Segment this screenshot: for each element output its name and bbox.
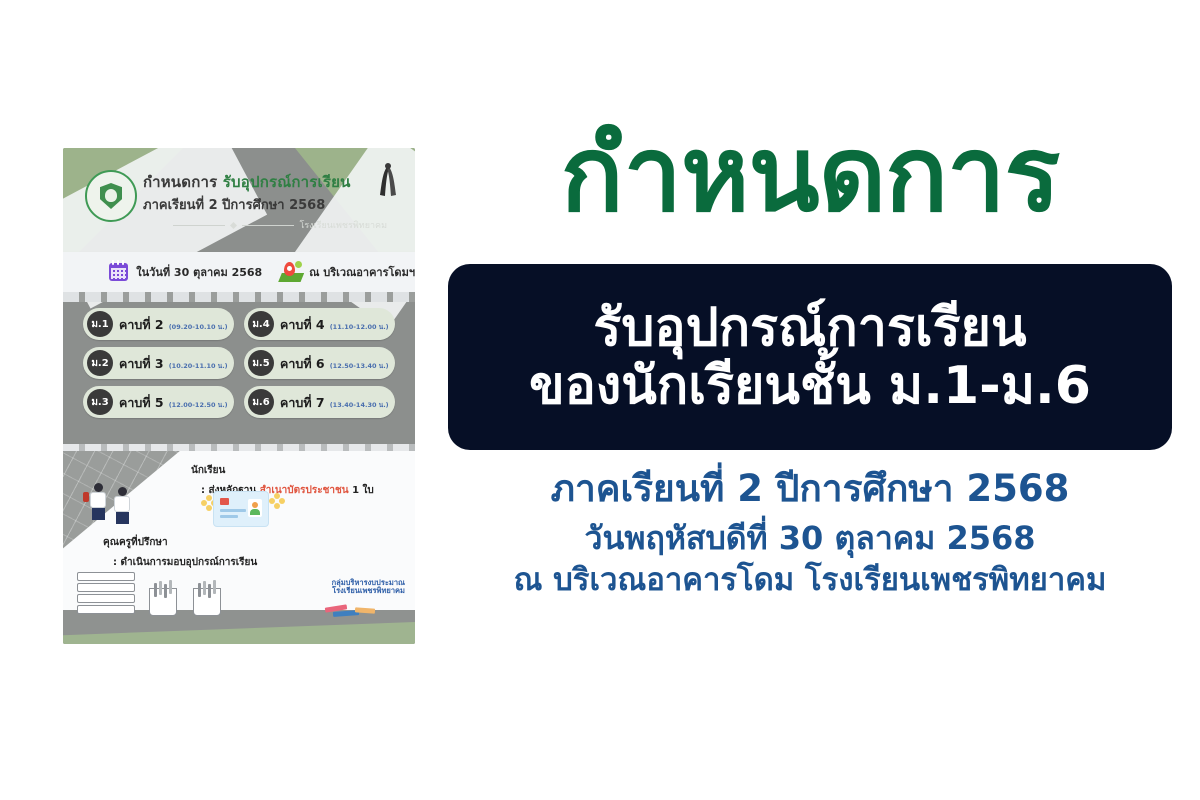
poster-title-accent: รับอุปกรณ์การเรียน [223, 173, 351, 191]
mourning-ribbon-icon [377, 162, 399, 198]
map-pin-icon [278, 262, 303, 282]
grade-badge: ม.4 [248, 311, 274, 337]
grade-badge: ม.6 [248, 389, 274, 415]
announcement-text-column: กำหนดการ รับอุปกรณ์การเรียน ของนักเรียนช… [440, 0, 1180, 800]
poster-divider: โรงเรียนเพชรพิทยาคม [173, 218, 387, 232]
poster-info-band: ในวันที่ 30 ตุลาคม 2568 ณ บริเวณอาคารโดม… [63, 252, 415, 292]
period-time: (12.50-13.40 น.) [330, 362, 389, 370]
teacher-label: คุณครูที่ปรึกษา [103, 535, 257, 550]
poster-fence-top [63, 292, 415, 302]
poster-header: กำหนดการ รับอุปกรณ์การเรียน ภาคเรียนที่ … [63, 148, 415, 254]
poster-title-prefix: กำหนดการ [143, 173, 217, 191]
books-icon [77, 572, 135, 616]
poster-footer-illustration: กลุ่มบริหารงบประมาณ โรงเรียนเพชรพิทยาคม [63, 574, 415, 644]
student-walking-icon [85, 483, 111, 520]
period-chip: ม.3 คาบที่ 5 (12.00-12.50 น.) [83, 386, 234, 418]
poster-title: กำหนดการ รับอุปกรณ์การเรียน [143, 170, 371, 194]
period-time: (10.20-11.10 น.) [169, 362, 228, 370]
period-time: (13.40-14.30 น.) [330, 401, 389, 409]
teacher-instruction: คุณครูที่ปรึกษา : ดำเนินการมอบอุปกรณ์การ… [103, 535, 257, 570]
announcement-poster-image[interactable]: กำหนดการ รับอุปกรณ์การเรียน ภาคเรียนที่ … [63, 148, 415, 644]
poster-school-name: โรงเรียนเพชรพิทยาคม [300, 218, 388, 232]
id-card-icon [213, 491, 269, 527]
period-time: (09.20-10.10 น.) [169, 323, 228, 331]
period-name: คาบที่ 3 [119, 356, 164, 371]
period-name: คาบที่ 7 [280, 395, 325, 410]
poster-credit: กลุ่มบริหารงบประมาณ โรงเรียนเพชรพิทยาคม [332, 579, 405, 596]
period-time: (12.00-12.50 น.) [169, 401, 228, 409]
pencil-cup-icon [193, 588, 221, 616]
announcement-details: ภาคเรียนที่ 2 ปีการศึกษา 2568 วันพฤหัสบด… [440, 466, 1180, 600]
period-time: (11.10-12.00 น.) [330, 323, 389, 331]
grade-badge: ม.1 [87, 311, 113, 337]
poster-period-grid: ม.1 คาบที่ 2 (09.20-10.10 น.) ม.4 คาบที่… [83, 308, 395, 418]
period-chip: ม.4 คาบที่ 4 (11.10-12.00 น.) [244, 308, 395, 340]
poster-location-text: ณ บริเวณอาคารโดมฯ [309, 263, 415, 281]
period-chip: ม.1 คาบที่ 2 (09.20-10.10 น.) [83, 308, 234, 340]
period-chip: ม.6 คาบที่ 7 (13.40-14.30 น.) [244, 386, 395, 418]
page-title: กำหนดการ [440, 122, 1180, 226]
calendar-icon [109, 263, 128, 281]
period-chip: ม.5 คาบที่ 6 (12.50-13.40 น.) [244, 347, 395, 379]
detail-date: วันพฤหัสบดีที่ 30 ตุลาคม 2568 [440, 518, 1180, 560]
banner-line-1: รับอุปกรณ์การเรียน [593, 299, 1026, 357]
teacher-pair-icon [347, 481, 401, 551]
period-name: คาบที่ 6 [280, 356, 325, 371]
flower-icon [269, 493, 285, 509]
poster-lower-section: นักเรียน : ส่งหลักฐาน สำเนาบัตรประชาชน 1… [63, 451, 415, 644]
grade-badge: ม.2 [87, 350, 113, 376]
credit-line-2: โรงเรียนเพชรพิทยาคม [332, 587, 405, 596]
detail-location: ณ บริเวณอาคารโดม โรงเรียนเพชรพิทยาคม [440, 560, 1180, 600]
grade-badge: ม.3 [87, 389, 113, 415]
detail-semester: ภาคเรียนที่ 2 ปีการศึกษา 2568 [440, 466, 1180, 512]
student-walking-icon [109, 487, 135, 524]
grade-badge: ม.5 [248, 350, 274, 376]
poster-date-text: ในวันที่ 30 ตุลาคม 2568 [136, 263, 262, 281]
period-name: คาบที่ 2 [119, 317, 164, 332]
school-crest-icon [85, 170, 137, 222]
highlight-banner: รับอุปกรณ์การเรียน ของนักเรียนชั้น ม.1-ม… [448, 264, 1172, 450]
pencil-cup-icon [149, 588, 177, 616]
teacher-value: : ดำเนินการมอบอุปกรณ์การเรียน [113, 555, 257, 570]
diamond-icon [230, 221, 237, 228]
period-name: คาบที่ 4 [280, 317, 325, 332]
banner-line-2: ของนักเรียนชั้น ม.1-ม.6 [529, 357, 1091, 415]
period-name: คาบที่ 5 [119, 395, 164, 410]
pencils-icon [325, 604, 395, 618]
poster-subtitle: ภาคเรียนที่ 2 ปีการศึกษา 2568 [143, 194, 371, 215]
period-chip: ม.2 คาบที่ 3 (10.20-11.10 น.) [83, 347, 234, 379]
student-label: นักเรียน [191, 463, 374, 478]
